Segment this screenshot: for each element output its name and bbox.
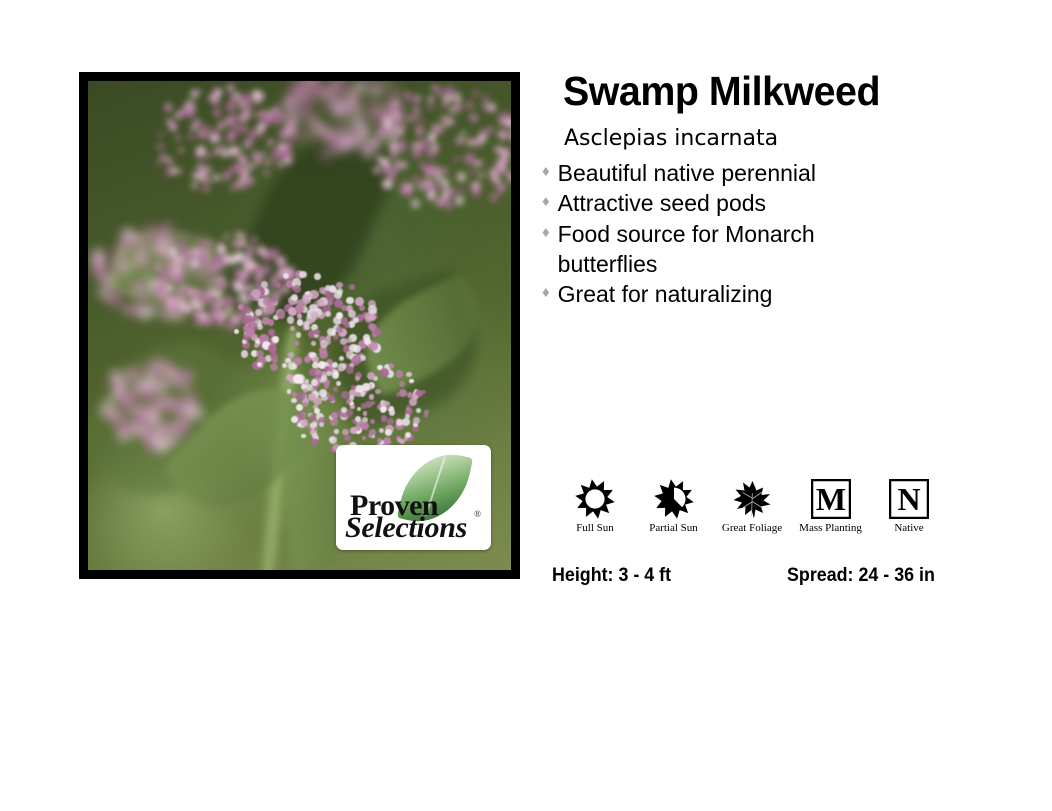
flower-cluster — [283, 355, 427, 453]
plant-feature-list: ♦Beautiful native perennial♦Attractive s… — [542, 158, 942, 320]
plant-dimensions: Height: 3 - 4 ft Spread: 24 - 36 in — [552, 565, 944, 587]
native-icon: N — [889, 476, 929, 521]
attribute-label: Partial Sun — [649, 522, 698, 534]
svg-text:M: M — [815, 481, 845, 517]
full-sun-icon — [574, 476, 616, 521]
flower-cluster — [367, 81, 511, 208]
attribute-great-foliage: Great Foliage — [713, 476, 791, 534]
partial-sun-icon — [653, 476, 695, 521]
logo-trademark: ® — [474, 509, 481, 519]
plant-photo: Proven Selections ® — [88, 81, 511, 570]
plant-common-name: Swamp Milkweed — [563, 70, 880, 113]
attribute-partial-sun: Partial Sun — [635, 476, 713, 534]
flower-cluster — [96, 355, 198, 443]
attribute-label: Full Sun — [576, 522, 614, 534]
feature-item: ♦Food source for Monarch butterflies — [542, 219, 942, 280]
attribute-label: Mass Planting — [799, 522, 862, 534]
diamond-bullet-icon: ♦ — [542, 158, 550, 187]
diamond-bullet-icon: ♦ — [542, 279, 550, 308]
diamond-bullet-icon: ♦ — [542, 219, 550, 248]
feature-text: Attractive seed pods — [558, 188, 766, 218]
logo-word-selections: Selections — [345, 513, 467, 543]
attribute-mass-planting: MMass Planting — [792, 476, 870, 534]
feature-text: Great for naturalizing — [558, 279, 773, 309]
plant-photo-frame: Proven Selections ® — [79, 72, 520, 579]
feature-item: ♦Great for naturalizing — [542, 279, 942, 309]
flower-cluster — [147, 81, 291, 189]
feature-text: Food source for Monarch butterflies — [558, 219, 888, 280]
plant-info-card: Proven Selections ® Swamp Milkweed Ascle… — [0, 0, 1052, 811]
attribute-label: Native — [894, 522, 923, 534]
mass-planting-icon: M — [811, 476, 851, 521]
diamond-bullet-icon: ♦ — [542, 188, 550, 217]
attribute-full-sun: Full Sun — [556, 476, 634, 534]
plant-attribute-icons: Full SunPartial SunGreat FoliageMMass Pl… — [556, 476, 948, 546]
attribute-label: Great Foliage — [722, 522, 782, 534]
svg-text:N: N — [897, 481, 920, 517]
attribute-native: NNative — [870, 476, 948, 534]
plant-botanical-name: Asclepias incarnata — [564, 126, 778, 151]
feature-item: ♦Beautiful native perennial — [542, 158, 942, 188]
feature-text: Beautiful native perennial — [558, 158, 816, 188]
plant-spread: Spread: 24 - 36 in — [787, 565, 935, 587]
proven-selections-logo: Proven Selections ® — [336, 445, 491, 550]
plant-height: Height: 3 - 4 ft — [552, 565, 671, 587]
feature-item: ♦Attractive seed pods — [542, 188, 942, 218]
great-foliage-icon — [730, 476, 774, 521]
